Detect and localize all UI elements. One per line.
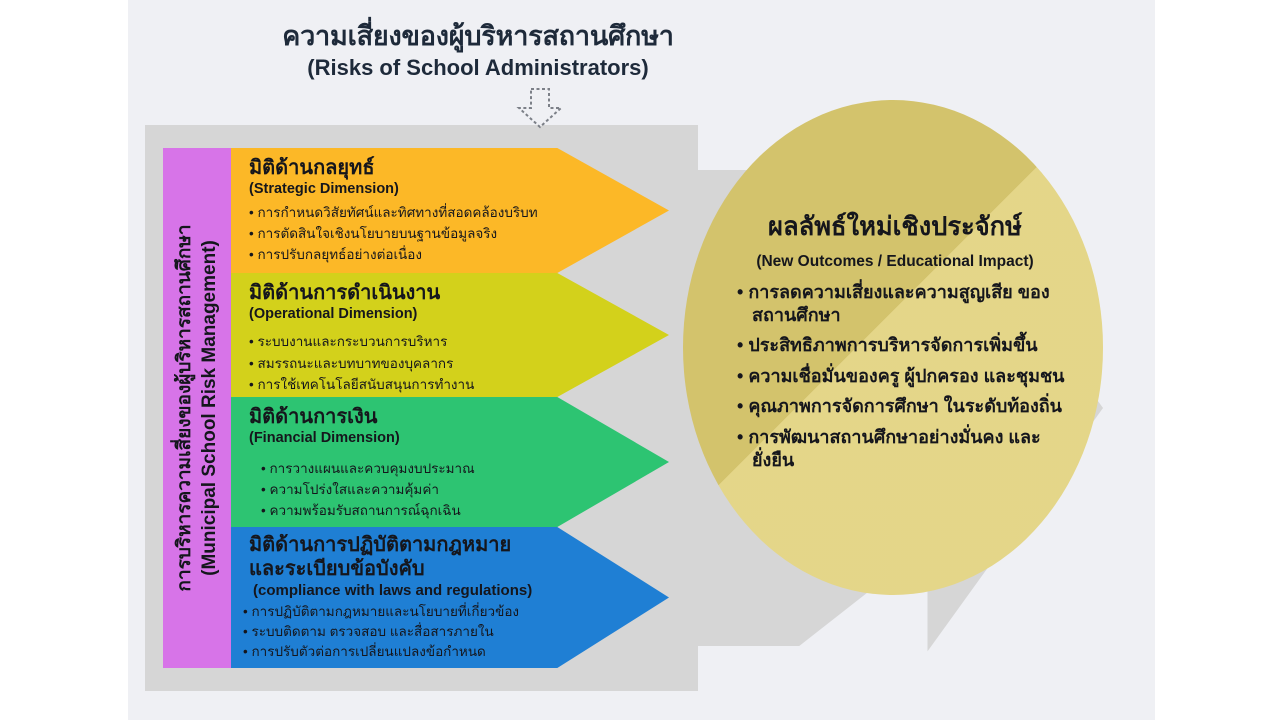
arrow-down-dotted-icon [511,86,569,130]
dimension-title-thai-line2: และระเบียบข้อบังคับ [249,557,669,581]
list-item: คุณภาพการจัดการศึกษา ในระดับท้องถิ่น [737,395,1077,418]
outcome-bullet-list: การลดความเสี่ยงและความสูญเสีย ของสถานศึก… [713,281,1077,473]
outcome-content: ผลลัพธ์ใหม่เชิงประจักษ์ (New Outcomes / … [683,100,1103,595]
dimension-title-english: (compliance with laws and regulations) [253,582,669,601]
side-label-text: การบริหารความเสี่ยงของผู้บริหารสถานศึกษา… [172,150,222,666]
list-item: การกำหนดวิสัยทัศน์และทิศทางที่สอดคล้องบร… [249,203,669,224]
page-title-english: (Risks of School Administrators) [128,55,828,82]
page-title: ความเสี่ยงของผู้บริหารสถานศึกษา (Risks o… [128,20,828,82]
outcome-title-thai: ผลลัพธ์ใหม่เชิงประจักษ์ [713,212,1077,243]
side-label-band: การบริหารความเสี่ยงของผู้บริหารสถานศึกษา… [163,148,231,668]
list-item: การวางแผนและควบคุมงบประมาณ [261,459,669,480]
list-item: ระบบงานและกระบวนการบริหาร [249,331,669,353]
list-item: การปฏิบัติตามกฎหมายและนโยบายที่เกี่ยวข้อ… [243,602,669,622]
list-item: ความเชื่อมั่นของครู ผู้ปกครอง และชุมชน [737,365,1077,388]
dimension-title-english: (Strategic Dimension) [249,180,669,198]
side-label-english: (Municipal School Risk Management) [197,150,222,666]
list-item: ประสิทธิภาพการบริหารจัดการเพิ่มขึ้น [737,334,1077,357]
dimension-title-english: (Financial Dimension) [249,429,669,447]
side-label-thai: การบริหารความเสี่ยงของผู้บริหารสถานศึกษา [172,150,197,666]
list-item: การพัฒนาสถานศึกษาอย่างมั่นคง และยั่งยืน [737,426,1077,473]
list-item: การตัดสินใจเชิงนโยบายบนฐานข้อมูลจริง [249,224,669,245]
outcome-circle: ผลลัพธ์ใหม่เชิงประจักษ์ (New Outcomes / … [683,100,1103,595]
outcome-title-english: (New Outcomes / Educational Impact) [713,253,1077,271]
list-item: การลดความเสี่ยงและความสูญเสีย ของสถานศึก… [737,281,1077,328]
dimension-title-english: (Operational Dimension) [249,305,669,323]
page-title-thai: ความเสี่ยงของผู้บริหารสถานศึกษา [128,20,828,53]
slide-canvas: ความเสี่ยงของผู้บริหารสถานศึกษา (Risks o… [128,0,1155,720]
